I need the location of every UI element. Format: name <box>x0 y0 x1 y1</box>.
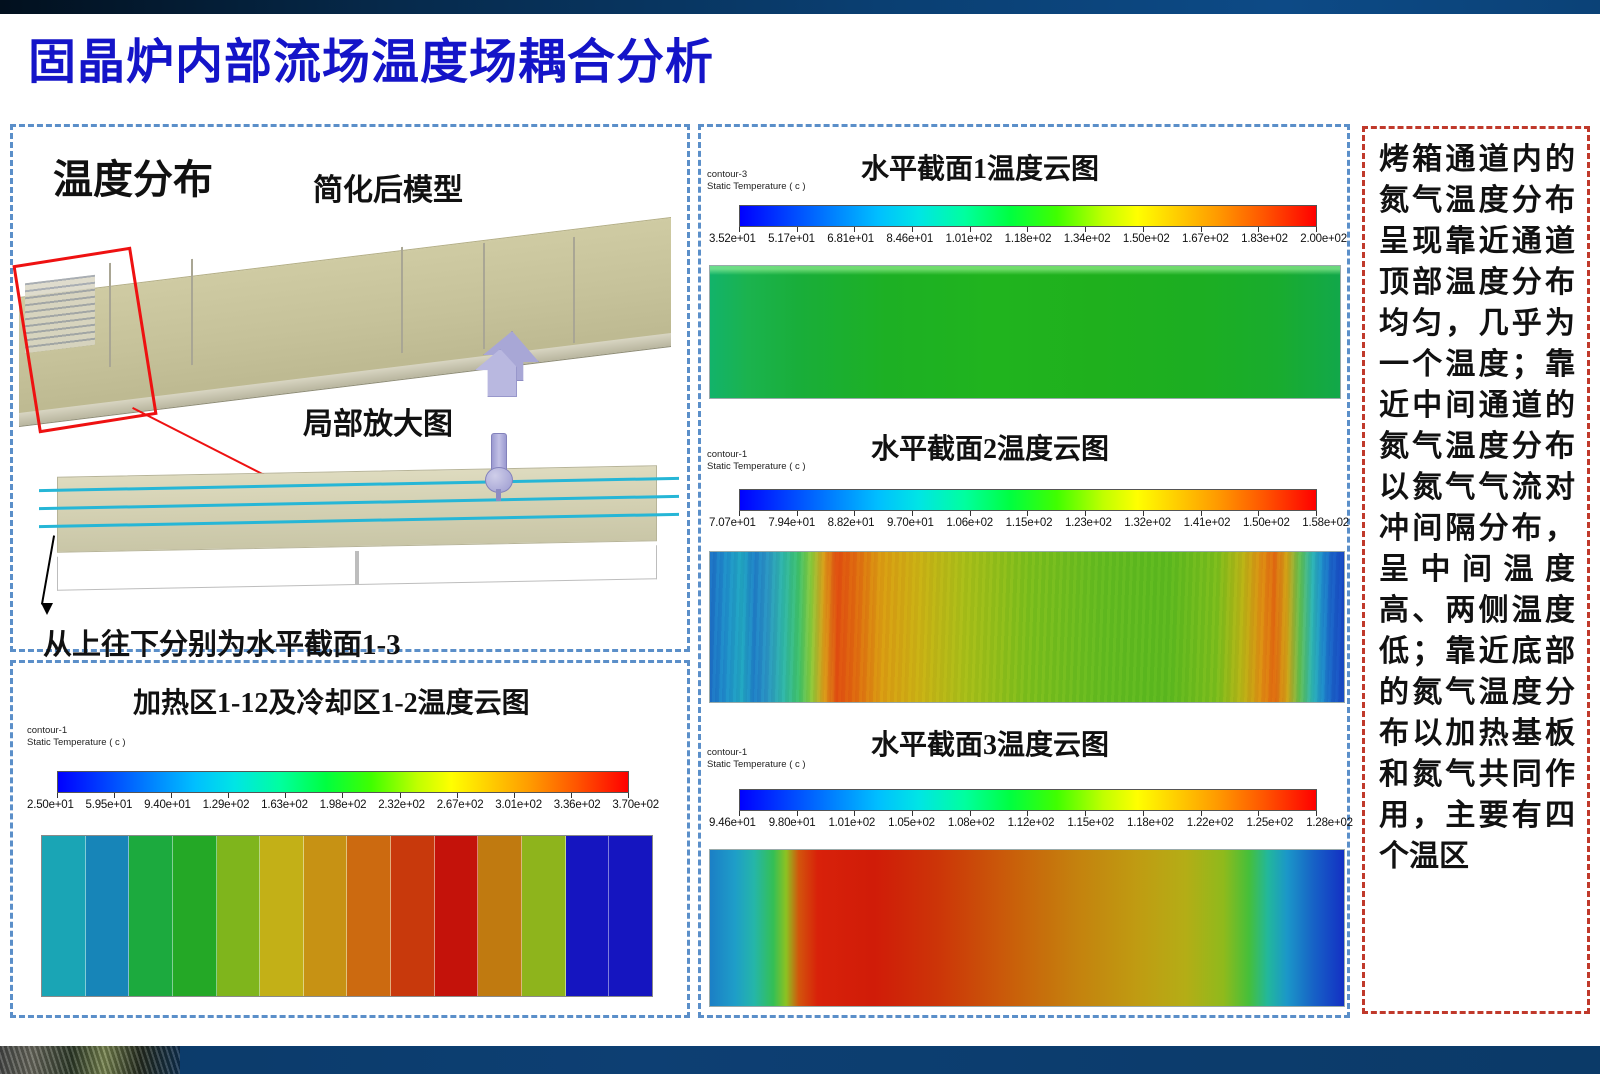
colorbar-tick-label: 1.05e+02 <box>888 817 935 829</box>
colorbar-tick-label: 9.40e+01 <box>144 799 191 811</box>
colorbar-tick-label: 6.81e+01 <box>827 233 874 245</box>
heating-zone-cell <box>217 836 261 996</box>
colorbar-tick-label: 1.06e+02 <box>946 517 993 529</box>
zone-colorbar <box>57 771 629 793</box>
colorbar-tick-label: 7.07e+01 <box>709 517 756 529</box>
colorbar-tick-label: 1.01e+02 <box>828 817 875 829</box>
section3-contour-image <box>709 849 1345 1007</box>
section2-colorbar-tickmarks <box>739 511 1317 516</box>
section-callout-line <box>41 535 55 604</box>
heating-zone-strip <box>41 835 653 997</box>
section1-contour-image <box>709 265 1341 399</box>
heating-zone-cell <box>129 836 173 996</box>
bottom-decorative-bar <box>0 1046 1600 1074</box>
heating-zone-cell <box>566 836 610 996</box>
colorbar-tick-label: 2.32e+02 <box>378 799 425 811</box>
colorbar-tick-label: 1.50e+02 <box>1123 233 1170 245</box>
colorbar-tick-label: 1.22e+02 <box>1187 817 1234 829</box>
section1-variable-label: Static Temperature ( c ) <box>707 181 806 193</box>
heating-zone-cell <box>522 836 566 996</box>
furnace-3d-model <box>13 227 689 427</box>
colorbar-tick-label: 1.15e+02 <box>1006 517 1053 529</box>
simplified-model-label: 简化后模型 <box>313 165 463 209</box>
heating-zone-cell <box>478 836 522 996</box>
colorbar-tick-label: 1.12e+02 <box>1008 817 1055 829</box>
colorbar-tick-label: 1.29e+02 <box>203 799 250 811</box>
zone-contour-id: contour-1 <box>27 725 67 737</box>
colorbar-tick-label: 1.25e+02 <box>1246 817 1293 829</box>
colorbar-tick-label: 1.08e+02 <box>948 817 995 829</box>
heating-zone-cell <box>173 836 217 996</box>
temperature-distribution-heading: 温度分布 <box>53 147 213 205</box>
slab-rib <box>191 259 193 365</box>
heating-zone-cell <box>435 836 479 996</box>
heating-zone-cell <box>42 836 86 996</box>
colorbar-tick-label: 8.46e+01 <box>886 233 933 245</box>
colorbar-tick-label: 1.18e+02 <box>1127 817 1174 829</box>
colorbar-tick-label: 1.28e+02 <box>1306 817 1353 829</box>
section1-colorbar <box>739 205 1317 227</box>
heating-zone-panel: 加热区1-12及冷却区1-2温度云图 contour-1 Static Temp… <box>10 660 690 1018</box>
colorbar-tick-label: 2.50e+01 <box>27 799 74 811</box>
colorbar-tick-label: 1.34e+02 <box>1064 233 1111 245</box>
nozzle-geometry <box>473 331 557 415</box>
section3-variable-label: Static Temperature ( c ) <box>707 759 806 771</box>
colorbar-tick-label: 7.94e+01 <box>768 517 815 529</box>
colorbar-tick-label: 5.95e+01 <box>86 799 133 811</box>
section3-contour-id: contour-1 <box>707 747 747 759</box>
section1-colorbar-tickmarks <box>739 227 1317 232</box>
heating-zone-cell <box>391 836 435 996</box>
section2-variable-label: Static Temperature ( c ) <box>707 461 806 473</box>
zoom-region-marker <box>12 247 157 434</box>
colorbar-tick-label: 1.63e+02 <box>261 799 308 811</box>
section2-colorbar-ticks: 7.07e+017.94e+018.82e+019.70e+011.06e+02… <box>709 517 1349 529</box>
section1-contour-id: contour-3 <box>707 169 747 181</box>
colorbar-tick-label: 9.70e+01 <box>887 517 934 529</box>
heating-zone-cell <box>86 836 130 996</box>
cross-section-diagram <box>39 427 679 607</box>
conclusion-text: 烤箱通道内的氮气温度分布呈现靠近通道顶部温度分布均匀，几乎为一个温度；靠近中间通… <box>1379 139 1575 877</box>
colorbar-tick-label: 1.15e+02 <box>1067 817 1114 829</box>
colorbar-tick-label: 1.98e+02 <box>320 799 367 811</box>
page-title: 固晶炉内部流场温度场耦合分析 <box>28 22 714 92</box>
colorbar-tick-label: 1.18e+02 <box>1005 233 1052 245</box>
section3-colorbar <box>739 789 1317 811</box>
slab-rib <box>573 237 575 343</box>
section3-colorbar-ticks: 9.46e+019.80e+011.01e+021.05e+021.08e+02… <box>709 817 1353 829</box>
colorbar-tick-label: 1.41e+02 <box>1184 517 1231 529</box>
section-order-note: 从上往下分别为水平截面1-3 <box>43 621 401 663</box>
colorbar-tick-label: 2.00e+02 <box>1300 233 1347 245</box>
zone-variable-label: Static Temperature ( c ) <box>27 737 126 749</box>
colorbar-tick-label: 3.01e+02 <box>495 799 542 811</box>
section3-title: 水平截面3温度云图 <box>871 723 1109 763</box>
zone-colorbar-ticks: 2.50e+015.95e+019.40e+011.29e+021.63e+02… <box>27 799 659 811</box>
section-contours-panel: 水平截面1温度云图 contour-3 Static Temperature (… <box>698 124 1350 1018</box>
colorbar-tick-label: 8.82e+01 <box>828 517 875 529</box>
colorbar-tick-label: 1.32e+02 <box>1124 517 1171 529</box>
heating-zone-cell <box>260 836 304 996</box>
section1-colorbar-ticks: 3.52e+015.17e+016.81e+018.46e+011.01e+02… <box>709 233 1347 245</box>
top-decorative-bar <box>0 0 1600 14</box>
section3-colorbar-tickmarks <box>739 811 1317 816</box>
section2-contour-image <box>709 551 1345 703</box>
section2-title: 水平截面2温度云图 <box>871 427 1109 467</box>
colorbar-tick-label: 1.58e+02 <box>1302 517 1349 529</box>
colorbar-tick-label: 9.46e+01 <box>709 817 756 829</box>
cross-section-base-gap <box>355 551 359 585</box>
heating-zone-cell <box>304 836 348 996</box>
section2-contour-id: contour-1 <box>707 449 747 461</box>
colorbar-tick-label: 2.67e+02 <box>437 799 484 811</box>
slab-rib <box>401 247 403 353</box>
colorbar-tick-label: 1.83e+02 <box>1241 233 1288 245</box>
model-panel: 温度分布 简化后模型 局部放大图 从上往下分别为水平截面1-3 <box>10 124 690 652</box>
colorbar-tick-label: 1.67e+02 <box>1182 233 1229 245</box>
colorbar-tick-label: 3.70e+02 <box>612 799 659 811</box>
section2-colorbar <box>739 489 1317 511</box>
colorbar-tick-label: 5.17e+01 <box>768 233 815 245</box>
colorbar-tick-label: 3.52e+01 <box>709 233 756 245</box>
section-callout-arrowhead <box>41 603 53 615</box>
heating-zone-cell <box>609 836 652 996</box>
nozzle-tip <box>496 489 501 501</box>
colorbar-tick-label: 1.23e+02 <box>1065 517 1112 529</box>
colorbar-tick-label: 1.01e+02 <box>946 233 993 245</box>
zone-chart-title: 加热区1-12及冷却区1-2温度云图 <box>133 681 530 721</box>
colorbar-tick-label: 9.80e+01 <box>769 817 816 829</box>
conclusion-panel: 烤箱通道内的氮气温度分布呈现靠近通道顶部温度分布均匀，几乎为一个温度；靠近中间通… <box>1362 126 1590 1014</box>
heating-zone-cell <box>347 836 391 996</box>
colorbar-tick-label: 1.50e+02 <box>1243 517 1290 529</box>
section1-title: 水平截面1温度云图 <box>861 147 1099 187</box>
bottom-photo-thumbnail <box>0 1046 180 1074</box>
zone-colorbar-tickmarks <box>57 793 629 798</box>
colorbar-tick-label: 3.36e+02 <box>554 799 601 811</box>
